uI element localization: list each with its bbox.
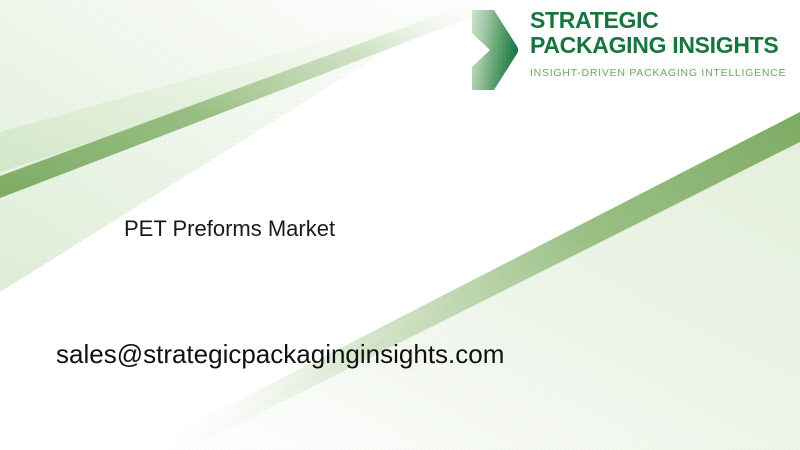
contact-email: sales@strategicpackaginginsights.com [56, 339, 504, 370]
chevron-right-icon [468, 7, 520, 93]
logo-wordmark: STRATEGIC PACKAGING INSIGHTS INSIGHT-DRI… [530, 8, 786, 79]
logo-name-line-1: STRATEGIC [530, 8, 786, 33]
logo-name-line-2: PACKAGING INSIGHTS [530, 33, 786, 58]
company-logo: STRATEGIC PACKAGING INSIGHTS INSIGHT-DRI… [468, 4, 788, 96]
logo-tagline: INSIGHT-DRIVEN PACKAGING INTELLIGENCE [530, 67, 786, 79]
slide-title: PET Preforms Market [124, 216, 335, 242]
presentation-slide: STRATEGIC PACKAGING INSIGHTS INSIGHT-DRI… [0, 0, 800, 450]
